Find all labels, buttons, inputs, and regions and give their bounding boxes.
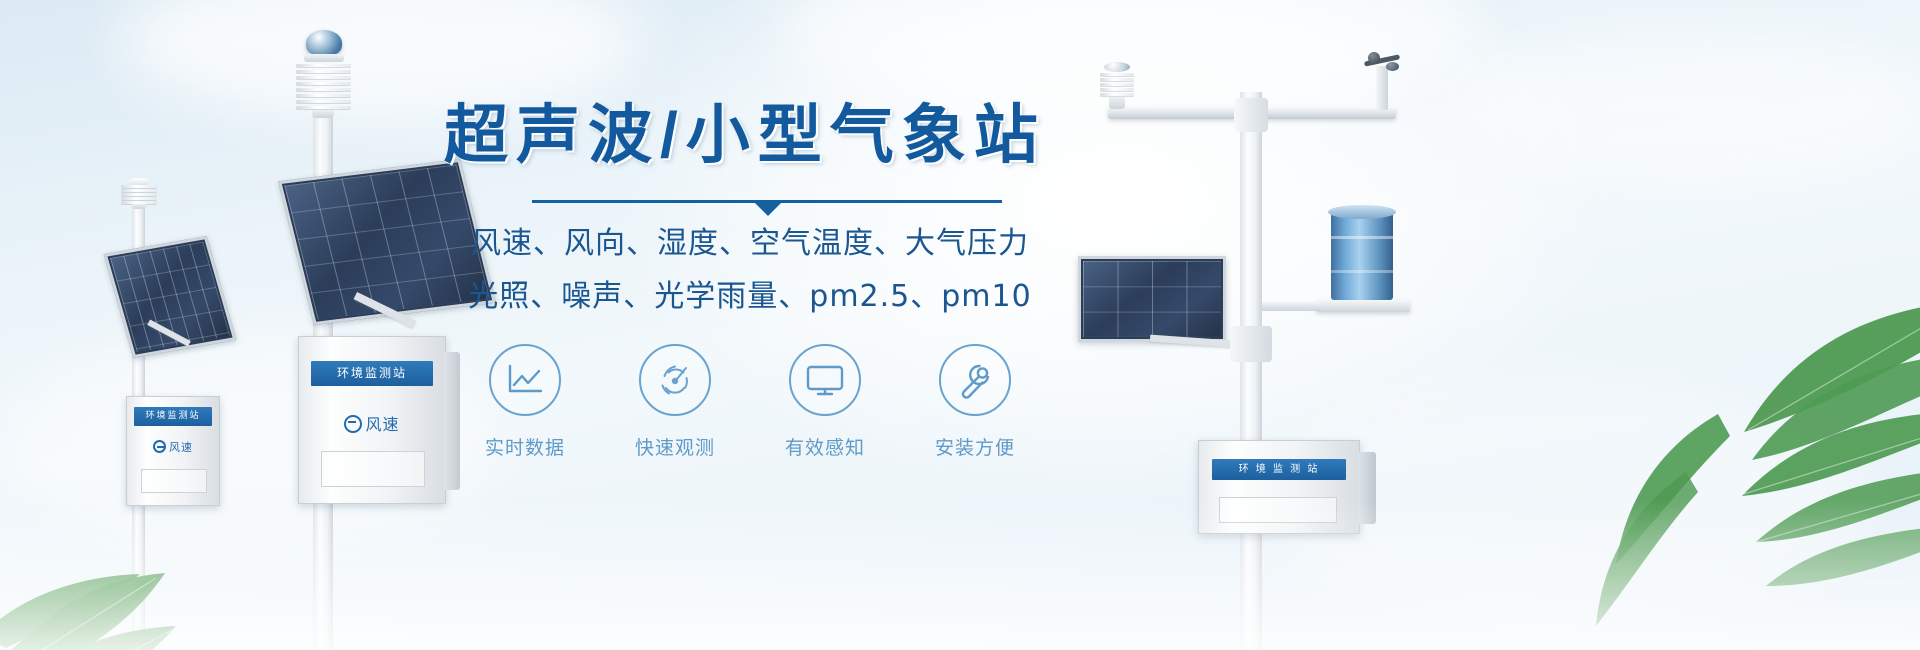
- feature-label: 快速观测: [623, 433, 727, 460]
- subtitle-line-2: 光照、噪声、光学雨量、pm2.5、pm10: [430, 274, 1070, 319]
- title-divider: [532, 200, 1002, 203]
- feature-item-fast-observation[interactable]: 快速观测: [623, 344, 727, 460]
- gauge-shelf: [1316, 300, 1410, 312]
- divider-triangle-icon: [755, 203, 781, 216]
- radar-icon: [639, 344, 711, 416]
- feature-item-realtime-data[interactable]: 实时数据: [473, 344, 577, 460]
- cloud-decoration: [1450, 30, 1920, 180]
- brand-name: 风速: [365, 415, 399, 434]
- line-chart-icon: [489, 344, 561, 416]
- wrench-icon: [939, 344, 1011, 416]
- feature-label: 有效感知: [773, 433, 877, 460]
- equipment-cabinet-middle: 环境监测站 风速: [298, 336, 446, 504]
- shelf-arm: [1262, 302, 1320, 311]
- sensor-collar: [304, 54, 344, 62]
- solar-panel: [1078, 256, 1226, 342]
- pole-clamp: [1230, 326, 1272, 362]
- bottom-haze: [0, 500, 1920, 650]
- feature-list: 实时数据 快速观测: [430, 344, 1070, 460]
- banner-text-block: 超声波/小型气象站 风速、风向、湿度、空气温度、大气压力 光照、噪声、光学雨量、…: [430, 100, 1070, 319]
- feature-item-effective-sensing[interactable]: 有效感知: [773, 344, 877, 460]
- radiation-shield-icon: [296, 62, 351, 120]
- page-title: 超声波/小型气象站: [430, 100, 1070, 172]
- arm-clamp: [1234, 98, 1268, 132]
- cabinet-label: 环境监测站: [311, 361, 434, 386]
- monitor-icon: [789, 344, 861, 416]
- feature-item-easy-install[interactable]: 安装方便: [923, 344, 1027, 460]
- banner-root: 环境监测站 风速 环境监测站 风速: [0, 0, 1920, 650]
- ultrasonic-sensor-icon: [1100, 62, 1134, 110]
- feature-label: 安装方便: [923, 433, 1027, 460]
- dome-sensor-icon: [306, 30, 342, 56]
- feature-label: 实时数据: [473, 433, 577, 460]
- cabinet-label: 环 境 监 测 站: [1212, 459, 1346, 480]
- brand-mark-icon: [344, 415, 362, 433]
- subtitle-line-1: 风速、风向、湿度、空气温度、大气压力: [430, 221, 1070, 266]
- rain-gauge: [1331, 212, 1393, 300]
- brand-logo: 风速: [299, 411, 445, 435]
- radiation-shield-icon: [121, 178, 157, 208]
- anemometer-icon: [1362, 52, 1402, 110]
- cabinet-door: [321, 451, 425, 487]
